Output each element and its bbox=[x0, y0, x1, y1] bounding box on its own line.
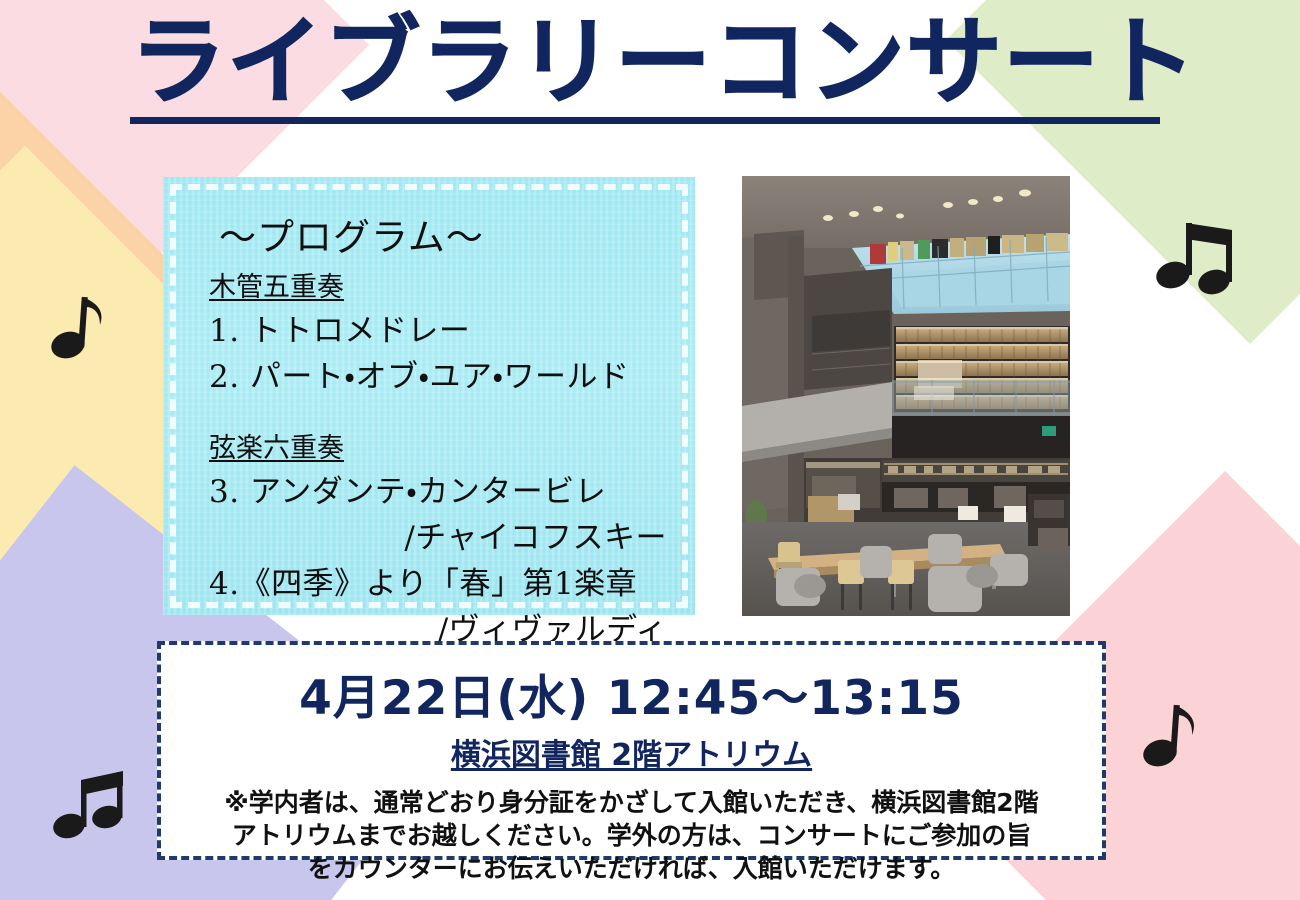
eighth-note-icon bbox=[1140, 695, 1210, 780]
page-title: ライブラリーコンサート bbox=[130, 12, 1160, 113]
admission-note: ※学内者は、通常どおり身分証をかざして入館いただき、横浜図書館2階 アトリウムま… bbox=[187, 786, 1076, 885]
event-info-box: 4月22日(水) 12:45～13:15 横浜図書館 2階アトリウム ※学内者は… bbox=[157, 641, 1106, 860]
program-content: ～プログラム～ 木管五重奏 1. トトロメドレー 2. パート・オブ・ユア・ワー… bbox=[209, 207, 679, 649]
program-group-label-strings: 弦楽六重奏 bbox=[209, 426, 679, 465]
poster-canvas: ライブラリーコンサート ～プログラム～ 木管五重奏 1. トトロメドレー 2. … bbox=[0, 0, 1300, 900]
program-card: ～プログラム～ 木管五重奏 1. トトロメドレー 2. パート・オブ・ユア・ワー… bbox=[163, 177, 695, 615]
program-heading: ～プログラム～ bbox=[219, 207, 679, 261]
beamed-eighth-notes-icon bbox=[52, 760, 132, 850]
eighth-note-icon bbox=[45, 285, 115, 370]
venue-photo bbox=[742, 176, 1070, 616]
event-venue: 横浜図書館 2階アトリウム bbox=[161, 730, 1102, 774]
admission-note-line-1: ※学内者は、通常どおり身分証をかざして入館いただき、横浜図書館2階 bbox=[187, 786, 1076, 819]
poster-title-block: ライブラリーコンサート bbox=[130, 12, 1160, 124]
admission-note-line-3: をカウンターにお伝えいただければ、入館いただけます。 bbox=[187, 852, 1076, 885]
beamed-eighth-notes-icon bbox=[1155, 205, 1240, 300]
program-item-4: 4.《四季》より「春」第1楽章 bbox=[209, 558, 679, 603]
event-date-time: 4月22日(水) 12:45～13:15 bbox=[161, 659, 1102, 728]
program-spacer bbox=[209, 396, 679, 422]
program-item-2: 2. パート・オブ・ユア・ワールド bbox=[209, 351, 679, 396]
program-item-3-composer: /チャイコフスキー bbox=[209, 512, 679, 557]
program-item-3: 3. アンダンテ・カンタービレ bbox=[209, 466, 679, 511]
admission-note-line-2: アトリウムまでお越しください。学外の方は、コンサートにご参加の旨 bbox=[187, 819, 1076, 852]
program-item-1: 1. トトロメドレー bbox=[209, 305, 679, 350]
program-group-label-woodwind: 木管五重奏 bbox=[209, 265, 679, 304]
